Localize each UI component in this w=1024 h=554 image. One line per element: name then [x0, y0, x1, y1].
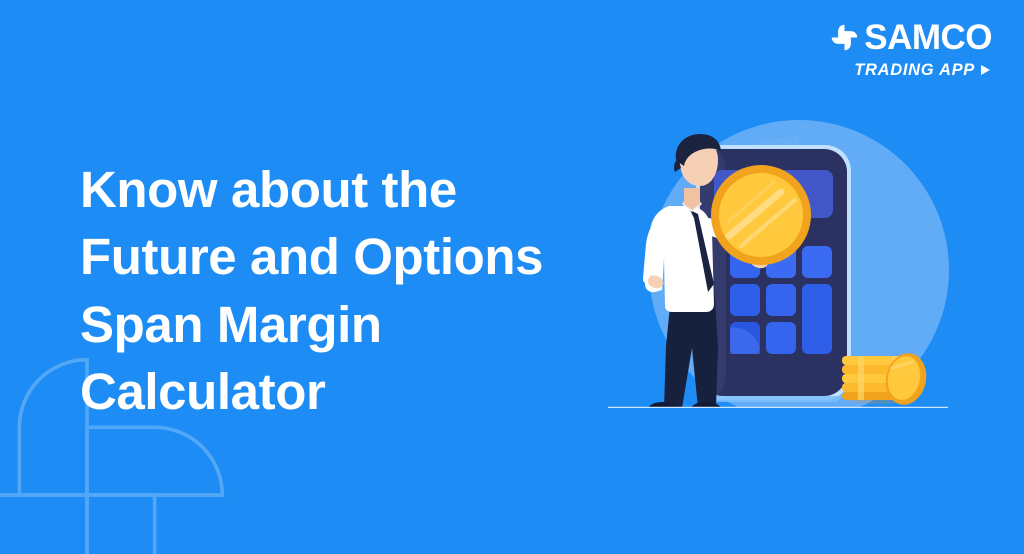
brand-tagline: TRADING APP: [854, 62, 975, 79]
calculator-button: [766, 322, 796, 354]
samco-pinwheel-icon: [830, 23, 859, 52]
man-with-calculator-and-coins: [596, 118, 996, 408]
calculator-button: [766, 284, 796, 316]
brand-tagline-row: TRADING APP: [854, 62, 990, 79]
brand-name: SAMCO: [864, 20, 992, 55]
gold-coin-stack: [842, 349, 931, 408]
page-title: Know about the Future and Options Span M…: [80, 156, 640, 425]
calculator-button: [730, 284, 760, 316]
calculator-button: [802, 246, 832, 278]
calculator-equals-button: [802, 284, 832, 354]
play-triangle-icon: [981, 65, 990, 75]
brand-logo[interactable]: SAMCO TRADING APP: [830, 20, 992, 79]
promo-banner: SAMCO TRADING APP Know about the Future …: [0, 0, 1024, 554]
gold-coin-icon: [711, 165, 811, 265]
brand-logo-row: SAMCO: [830, 20, 992, 55]
